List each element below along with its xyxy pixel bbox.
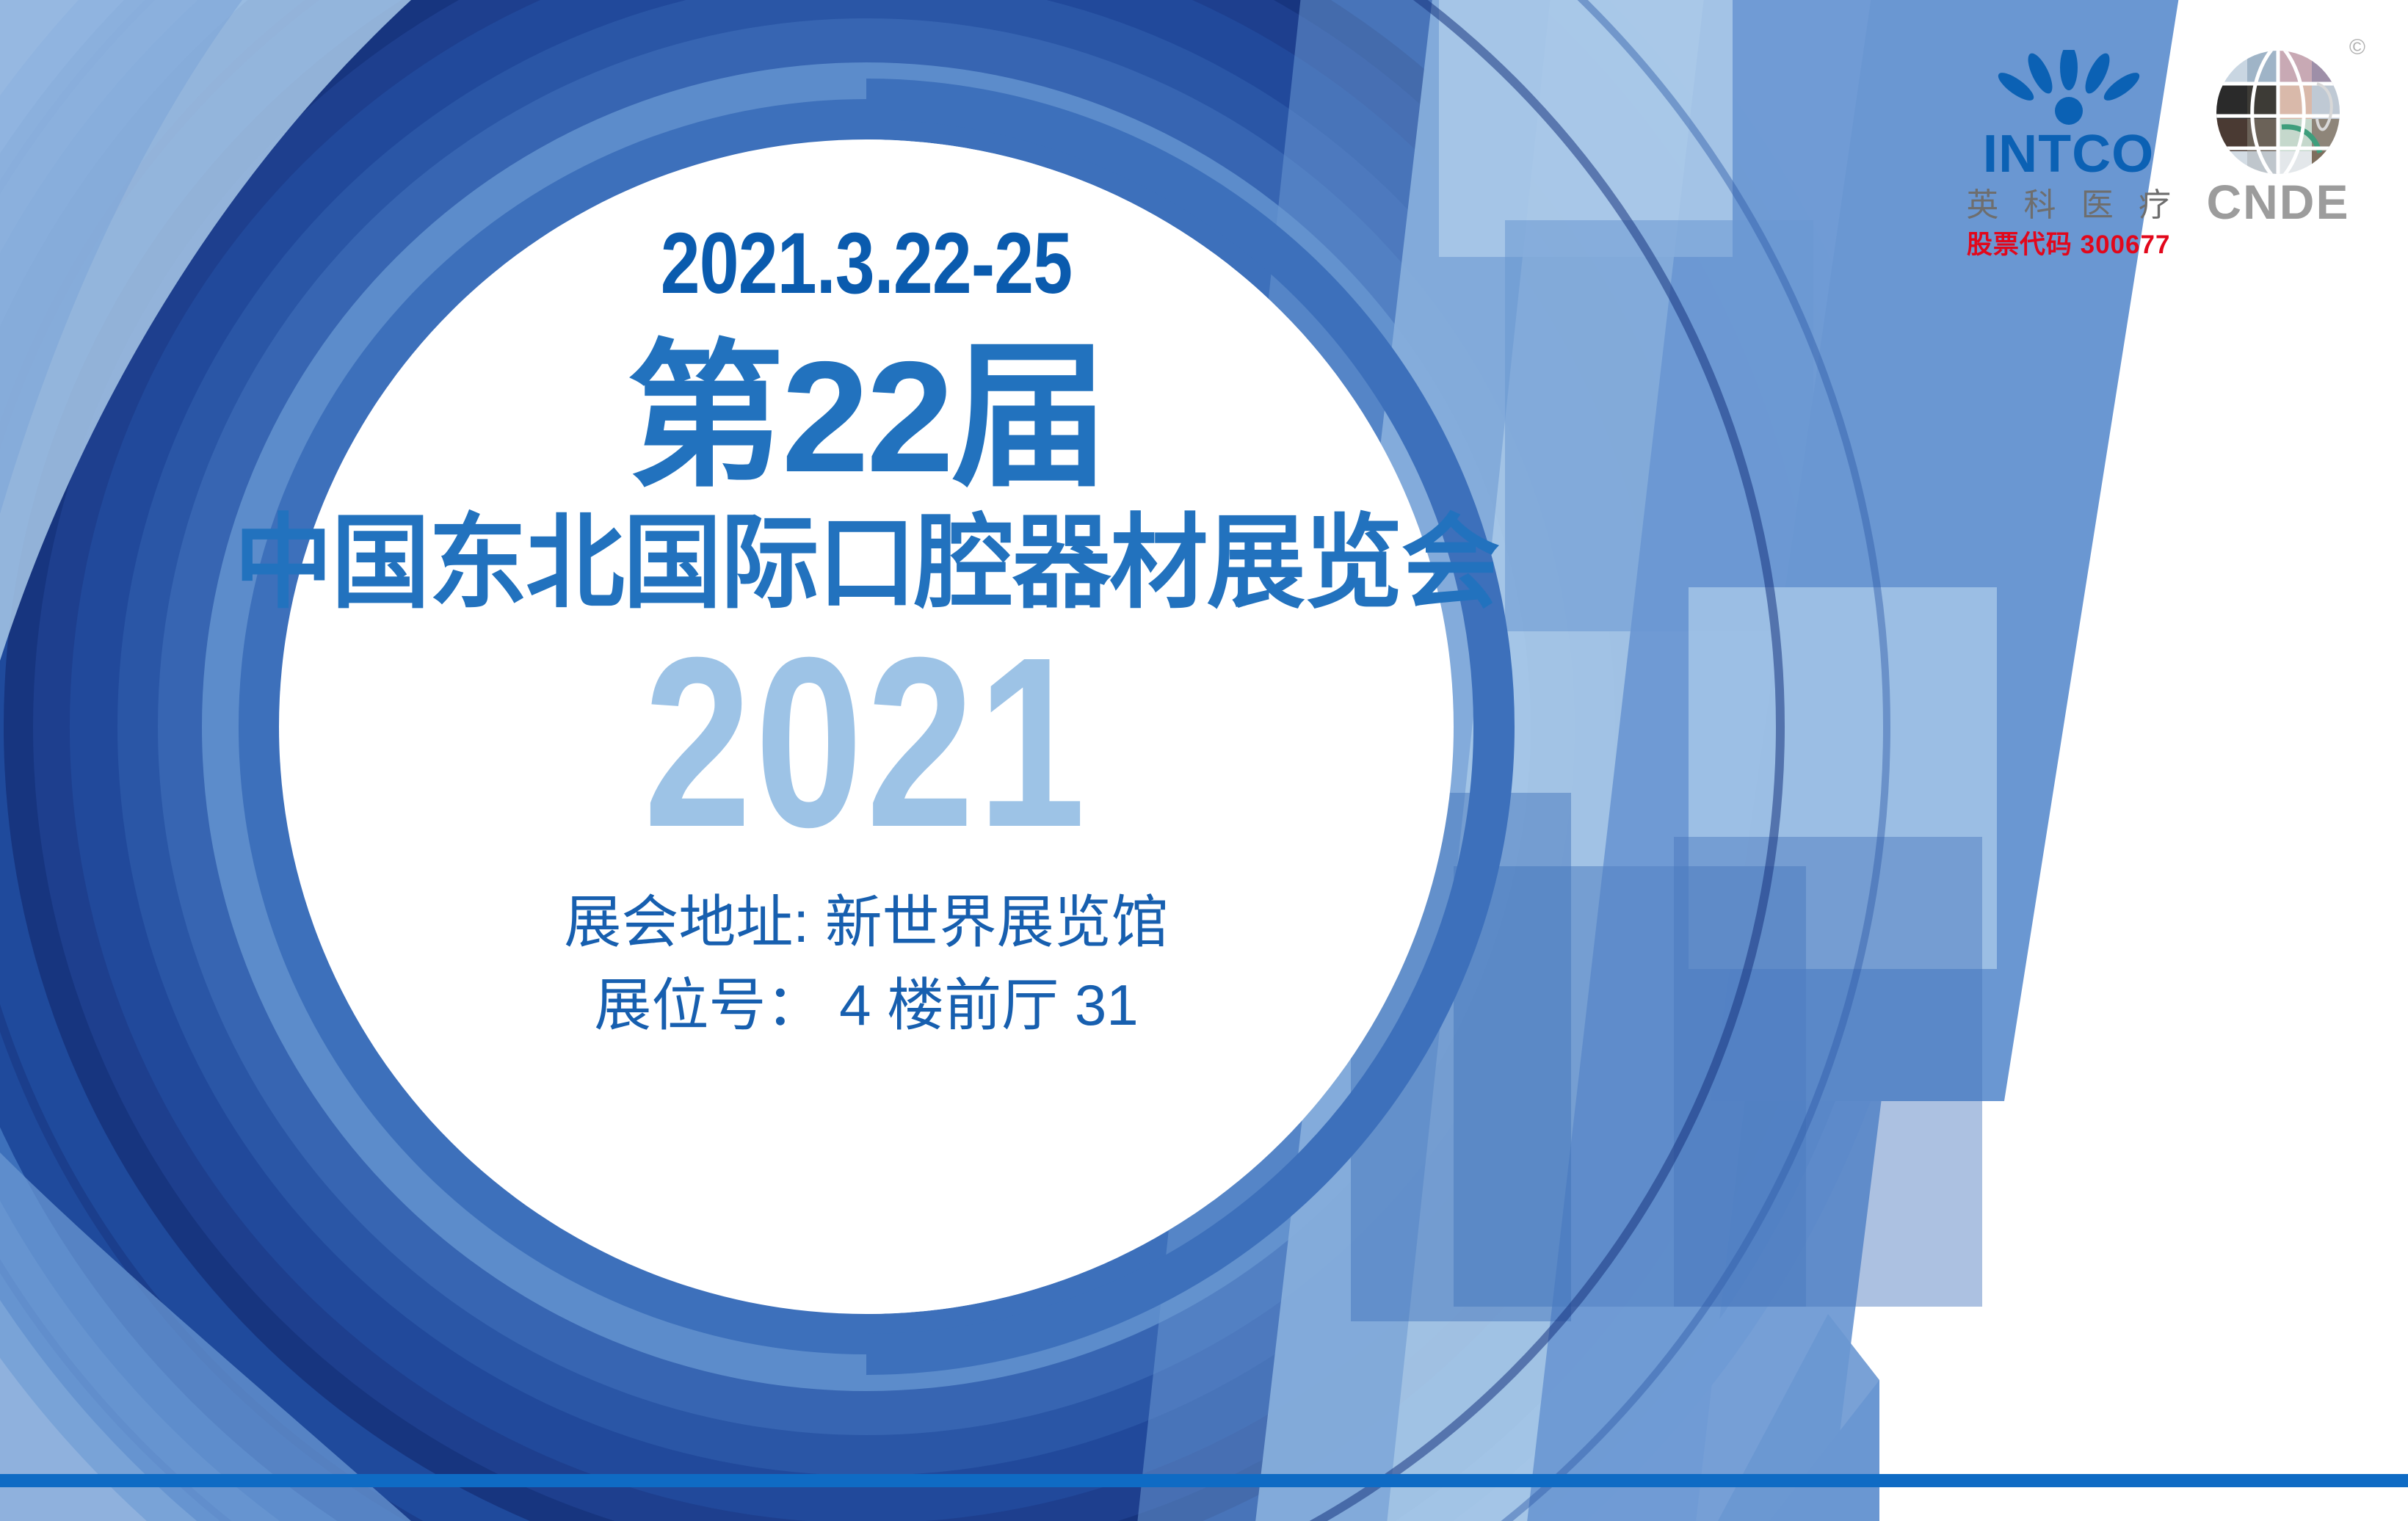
intco-starburst-icon bbox=[1980, 50, 2158, 131]
exhibition-banner: 2021.3.22-25 第22届 中国东北国际口腔器材展览会 2021 展会地… bbox=[0, 0, 2408, 1521]
venue-address: 展会地址: 新世界展览馆 bbox=[147, 881, 1586, 964]
edition-title: 第22届 bbox=[147, 338, 1586, 495]
logo-group: INTCO 英 科 医 疗 股票代码 300677 © bbox=[1958, 43, 2362, 258]
year-watermark: 2021 bbox=[291, 621, 1442, 863]
event-date: 2021.3.22-25 bbox=[276, 220, 1456, 307]
exhibition-name: 中国东北国际口腔器材展览会 bbox=[175, 509, 1557, 617]
intco-wordmark: INTCO bbox=[1983, 128, 2155, 181]
booth-number: 展位号： 4 楼前厅 31 bbox=[147, 964, 1586, 1047]
intco-chinese-name: 英 科 医 疗 bbox=[1958, 189, 2179, 222]
cnde-globe-icon bbox=[2208, 43, 2348, 182]
bottom-rule bbox=[0, 1474, 2408, 1487]
cnde-logo: © bbox=[2194, 43, 2362, 226]
intco-stock-code: 股票代码 300677 bbox=[1967, 232, 2171, 258]
cnde-wordmark: CNDE bbox=[2206, 178, 2349, 226]
banner-text-stack: 2021.3.22-25 第22届 中国东北国际口腔器材展览会 2021 展会地… bbox=[147, 220, 1586, 1047]
intco-logo: INTCO 英 科 医 疗 股票代码 300677 bbox=[1958, 43, 2179, 258]
copyright-icon: © bbox=[2349, 37, 2365, 59]
